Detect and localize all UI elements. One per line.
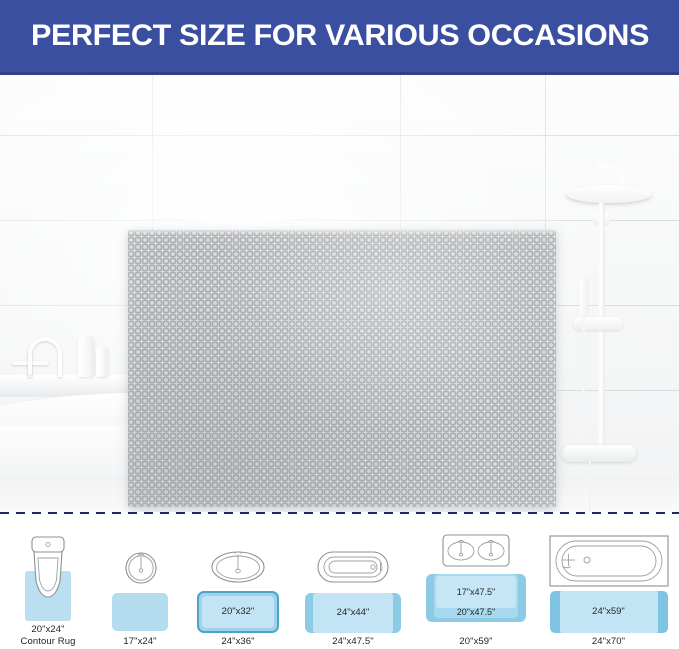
faucet-stem-icon (28, 353, 32, 375)
size-label-primary: 24"x47.5" (332, 636, 373, 647)
size-label-primary: 17"x24" (123, 636, 156, 647)
size-caption: 20"x24" Contour Rug (21, 624, 76, 647)
rug-mid-label: 20"x47.5" (426, 607, 526, 617)
header-banner: PERFECT SIZE FOR VARIOUS OCCASIONS (0, 0, 679, 75)
rug-17x24-diagram (108, 547, 172, 633)
size-label-primary: 24"x36" (221, 636, 254, 647)
rug-inner-label: 20"x32" (202, 596, 274, 628)
toiletry-bottle (96, 347, 108, 377)
rug-24x36-diagram: 20"x32" (197, 545, 279, 633)
size-option-24x36[interactable]: 20"x32" 24"x36" (184, 520, 292, 649)
size-option-contour-rug[interactable]: 20"x24" Contour Rug (0, 520, 96, 649)
section-divider (0, 512, 679, 514)
trough-sink-icon (317, 545, 389, 589)
contour-rug-diagram (11, 535, 85, 621)
rain-shower-head-icon (566, 185, 652, 203)
size-caption: 20"x59" (459, 636, 492, 648)
size-option-17x24[interactable]: 17"x24" (96, 520, 184, 649)
page-title: PERFECT SIZE FOR VARIOUS OCCASIONS (30, 19, 648, 53)
bathtub-icon (549, 535, 669, 587)
double-sink-icon (442, 530, 510, 570)
rug-top-edge (128, 230, 556, 235)
tile-grout-line (0, 220, 679, 221)
handheld-shower-icon (580, 278, 589, 316)
rug-inner-label: 17"x47.5" (436, 576, 516, 608)
size-caption: 17"x24" (123, 636, 156, 648)
size-caption: 24"x47.5" (332, 636, 373, 648)
size-option-20x59[interactable]: 17"x47.5" 20"x47.5" 20"x59" (414, 520, 538, 649)
hero-bathroom-photo (0, 75, 679, 512)
size-option-24x47-5[interactable]: 24"x44" 24"x47.5" (292, 520, 414, 649)
shower-holder-bracket (573, 317, 623, 330)
shower-hose-lower (589, 460, 591, 512)
rug-shape (112, 593, 168, 631)
round-sink-icon (124, 549, 158, 585)
size-label-primary: 20"x59" (459, 636, 492, 647)
faucet-spout-icon (28, 337, 62, 377)
oval-sink-icon (211, 545, 265, 587)
size-chart: 20"x24" Contour Rug 17"x24" (0, 520, 679, 649)
rug-20x59-diagram: 17"x47.5" 20"x47.5" (426, 530, 526, 622)
shower-mixer-valve (562, 445, 636, 462)
rug-outer-shape: 24"x59" (550, 591, 668, 633)
size-option-24x70[interactable]: 24"x59" 24"x70" (538, 520, 679, 649)
size-caption: 24"x36" (221, 636, 254, 648)
rug-inner-label: 24"x59" (560, 591, 658, 633)
toilet-icon (24, 535, 72, 607)
size-label-secondary: Contour Rug (21, 636, 76, 647)
size-label-primary: 20"x24" (31, 624, 64, 635)
rug-outer-shape: 20"x32" (197, 591, 279, 633)
rug-24x47-5-diagram: 24"x44" (305, 545, 401, 633)
size-caption: 24"x70" (592, 636, 625, 648)
product-infographic: PERFECT SIZE FOR VARIOUS OCCASIONS (0, 0, 679, 649)
rug-24x70-diagram: 24"x59" (547, 535, 671, 633)
bath-rug-product (128, 230, 556, 507)
size-label-primary: 24"x70" (592, 636, 625, 647)
rug-outer-shape: 24"x44" (305, 593, 401, 633)
tile-grout-line (0, 135, 679, 136)
rug-inner-label: 24"x44" (313, 593, 393, 633)
toiletry-bottle (78, 336, 94, 377)
